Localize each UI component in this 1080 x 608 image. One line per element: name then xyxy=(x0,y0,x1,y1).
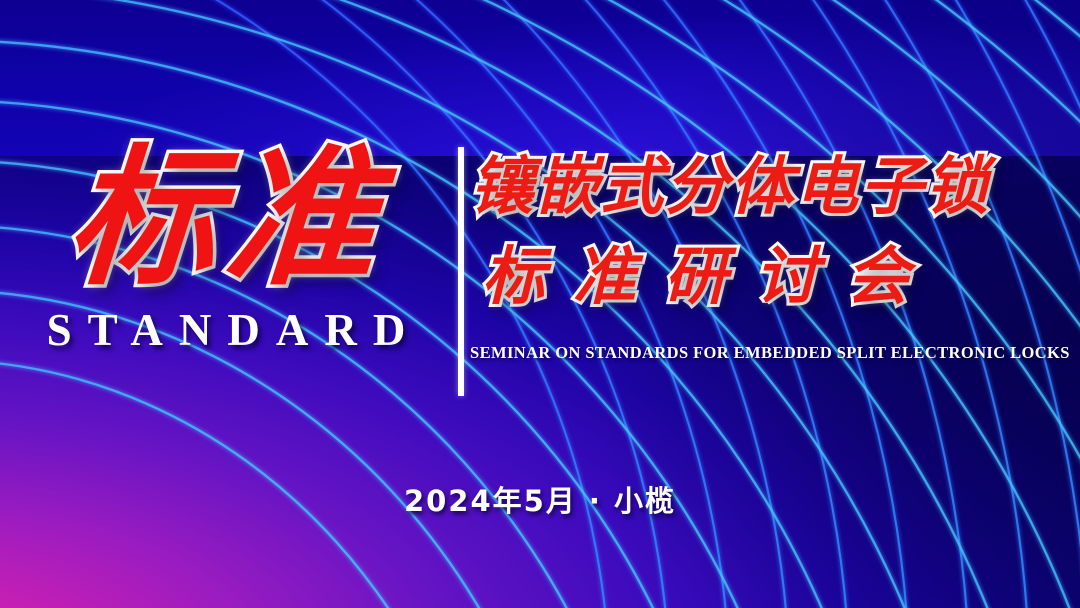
seminar-banner: 标准 STANDARD 镶嵌式分体电子锁 标准研讨会 SEMINAR ON ST… xyxy=(0,0,1080,608)
brand-english-logotype: STANDARD xyxy=(0,304,452,356)
title-block: 镶嵌式分体电子锁 标准研讨会 SEMINAR ON STANDARDS FOR … xyxy=(470,150,1030,363)
brand-chinese-logotype: 标准 xyxy=(0,140,458,298)
brand-block: 标准 STANDARD xyxy=(0,140,452,356)
event-title-line-2: 标准研讨会 xyxy=(470,240,1030,312)
event-date-location: 2024年5月 · 小榄 xyxy=(0,478,1080,520)
event-title-line-1: 镶嵌式分体电子锁 xyxy=(470,150,1030,222)
vertical-divider xyxy=(458,147,464,396)
event-subtitle-english: SEMINAR ON STANDARDS FOR EMBEDDED SPLIT … xyxy=(470,343,1030,363)
